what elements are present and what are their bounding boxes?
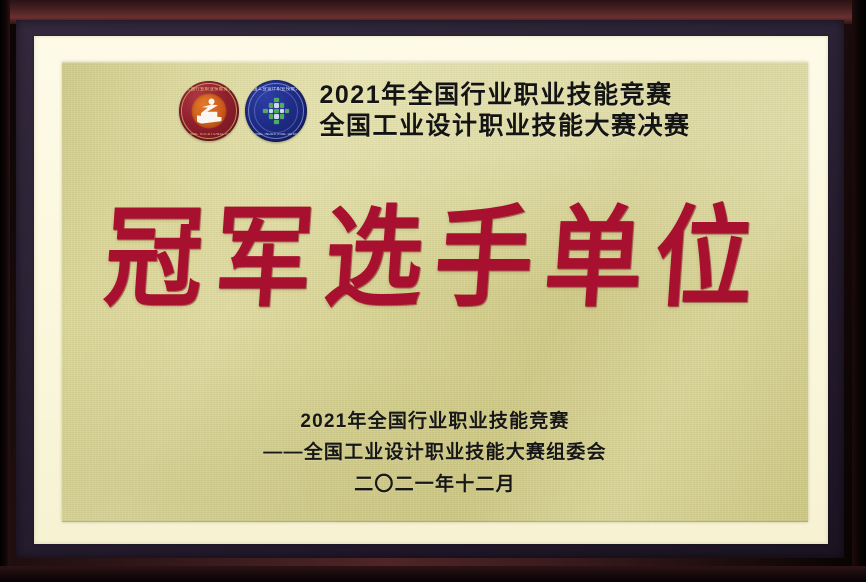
motif-cell: [280, 120, 284, 124]
motif-cell: [263, 114, 267, 118]
header-line-1: 2021年全国行业职业技能竞赛: [319, 81, 690, 111]
motif-cell: [263, 98, 267, 102]
national-industrial-design-skills-contest-emblem: 全国工业设计职业技能大赛: [245, 80, 307, 142]
motif-cell: [274, 109, 278, 113]
award-plaque: 全国行业职业技能竞赛 NATIONAL VOCATIONAL SKILLS CO…: [0, 0, 866, 582]
motif-cell: [274, 114, 278, 118]
motif-cell: [263, 120, 267, 124]
motif-cell: [274, 120, 278, 124]
motif-cell: [285, 98, 289, 102]
frame-bevel-right: [852, 0, 866, 582]
motif-cell: [285, 120, 289, 124]
footer-line-date: 二〇二一年十二月: [62, 469, 808, 500]
footer-line-competition: 2021年全国行业职业技能竞赛: [62, 406, 808, 437]
header-line-2: 全国工业设计职业技能大赛决赛: [319, 112, 690, 142]
athlete-body-icon: [201, 105, 218, 118]
green-cross-motif-icon: [263, 98, 289, 124]
motif-cell: [269, 120, 273, 124]
header-text-block: 2021年全国行业职业技能竞赛 全国工业设计职业技能大赛决赛: [319, 81, 690, 142]
plaque-footer: 2021年全国行业职业技能竞赛 ——全国工业设计职业技能大赛组委会 二〇二一年十…: [62, 406, 808, 500]
plaque-header: 全国行业职业技能竞赛 NATIONAL VOCATIONAL SKILLS CO…: [62, 80, 808, 142]
red-emblem-ring-text-bottom: NATIONAL VOCATIONAL SKILLS COMPETITION: [179, 133, 239, 136]
blue-emblem-ring-text-bottom: NATIONAL INDUSTRIAL DESIGN VOCATIONAL SK…: [245, 133, 307, 136]
red-emblem-core: [192, 94, 227, 129]
gold-plate: 全国行业职业技能竞赛 NATIONAL VOCATIONAL SKILLS CO…: [62, 62, 808, 522]
motif-cell: [285, 114, 289, 118]
motif-cell: [274, 103, 278, 107]
motif-cell: [269, 98, 273, 102]
award-title-calligraphy: 冠军选手单位: [62, 204, 808, 314]
motif-cell: [269, 109, 273, 113]
athlete-figure-icon: [209, 99, 215, 105]
red-emblem-ring-text-top: 全国行业职业技能竞赛: [179, 87, 239, 91]
motif-cell: [280, 114, 284, 118]
motif-cell: [274, 98, 278, 102]
motif-cell: [280, 103, 284, 107]
motif-cell: [285, 103, 289, 107]
footer-line-organizer: ——全国工业设计职业技能大赛组委会: [62, 437, 808, 468]
blue-emblem-ring-text-top: 全国工业设计职业技能大赛: [245, 87, 307, 91]
national-industry-vocational-skills-competition-emblem: 全国行业职业技能竞赛 NATIONAL VOCATIONAL SKILLS CO…: [179, 81, 239, 141]
motif-cell: [280, 109, 284, 113]
swoosh-icon: [197, 116, 222, 125]
motif-cell: [263, 103, 267, 107]
frame-bevel-bottom: [0, 566, 866, 582]
frame-bevel-left: [0, 0, 10, 582]
motif-cell: [269, 103, 273, 107]
motif-cell: [280, 98, 284, 102]
motif-cell: [263, 109, 267, 113]
motif-cell: [285, 109, 289, 113]
emblem-group: 全国行业职业技能竞赛 NATIONAL VOCATIONAL SKILLS CO…: [179, 80, 307, 142]
motif-cell: [269, 114, 273, 118]
